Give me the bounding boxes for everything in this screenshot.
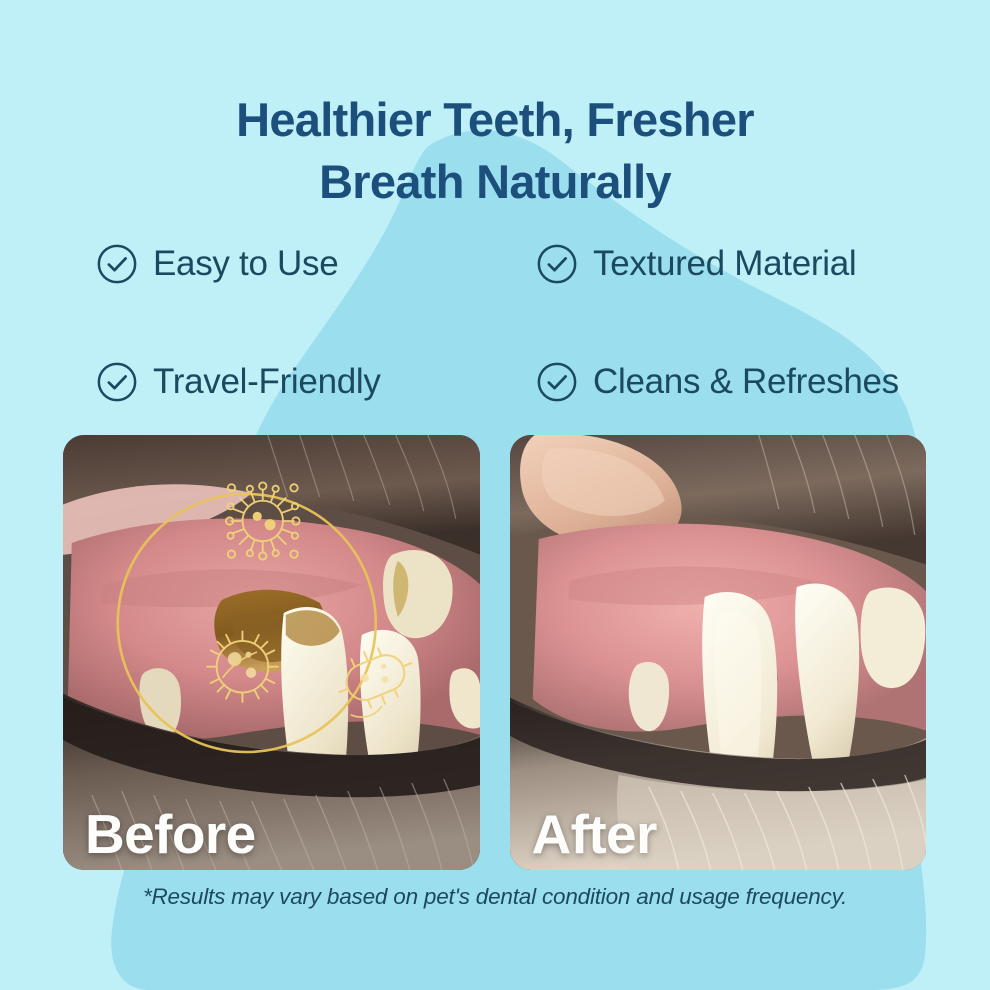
- check-circle-icon: [96, 361, 138, 403]
- after-label: After: [532, 806, 657, 864]
- feature-label: Easy to Use: [153, 244, 338, 284]
- check-circle-icon: [96, 243, 138, 285]
- feature-label: Textured Material: [593, 244, 856, 284]
- promo-graphic: Healthier Teeth, Fresher Breath Naturall…: [0, 0, 990, 990]
- disclaimer-text: *Results may vary based on pet's dental …: [0, 884, 990, 910]
- feature-list: Easy to Use Textured Material Travel-Fri…: [96, 205, 946, 441]
- feature-label: Travel-Friendly: [153, 362, 381, 402]
- feature-item-cleans-and-refreshes: Cleans & Refreshes: [536, 323, 946, 441]
- page-title: Healthier Teeth, Fresher Breath Naturall…: [0, 89, 990, 211]
- check-circle-icon: [536, 361, 578, 403]
- after-photo-panel: After: [510, 435, 927, 870]
- before-label: Before: [85, 806, 256, 864]
- feature-item-travel-friendly: Travel-Friendly: [96, 323, 506, 441]
- headline-line-1: Healthier Teeth, Fresher: [0, 89, 990, 150]
- feature-item-textured-material: Textured Material: [536, 205, 946, 323]
- feature-label: Cleans & Refreshes: [593, 362, 899, 402]
- before-after-comparison: Before: [63, 435, 926, 870]
- check-circle-icon: [536, 243, 578, 285]
- headline-line-2: Breath Naturally: [0, 151, 990, 212]
- feature-item-easy-to-use: Easy to Use: [96, 205, 506, 323]
- before-photo-panel: Before: [63, 435, 480, 870]
